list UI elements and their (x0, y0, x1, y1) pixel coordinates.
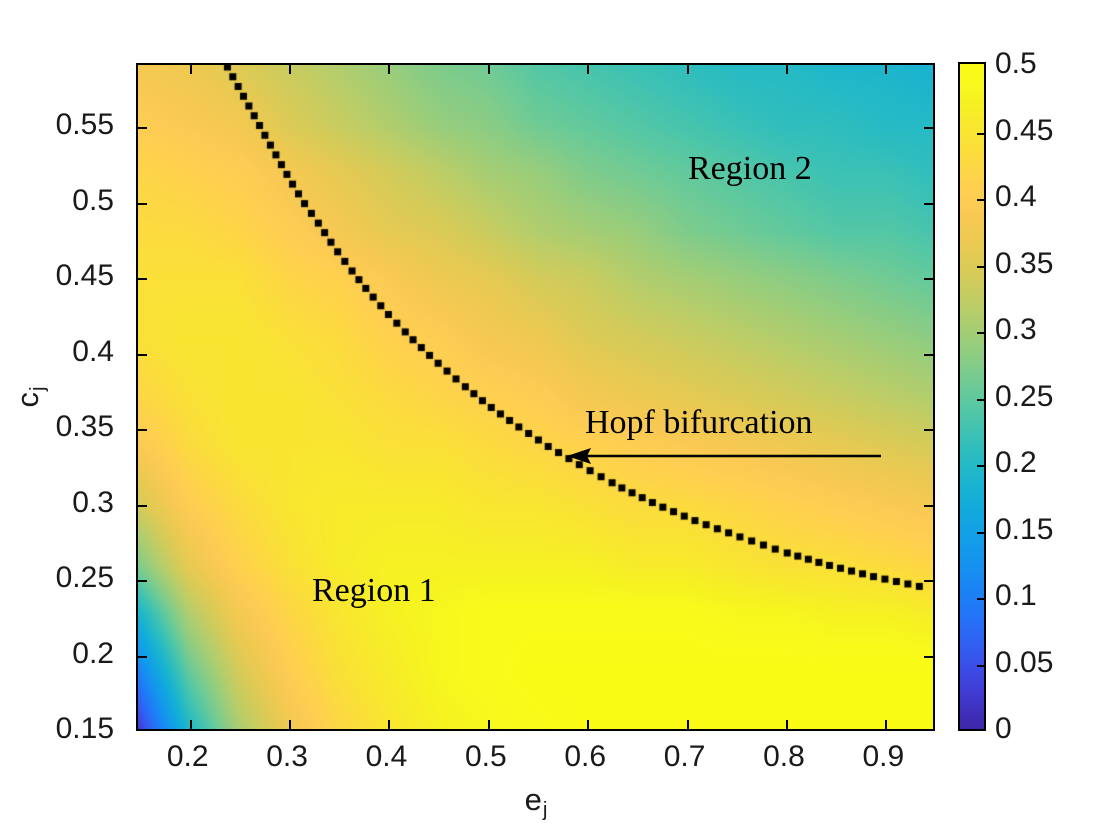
y-tick-label: 0.2 (72, 637, 114, 671)
y-axis-label-base: c (10, 392, 45, 408)
y-tick-label: 0.4 (72, 335, 114, 369)
colorbar-tick-mark (977, 532, 984, 534)
y-axis-label: cj (10, 386, 50, 407)
colorbar-tick-label: 0.2 (995, 446, 1037, 480)
y-tick-mark (138, 354, 147, 356)
y-tick-mark (138, 580, 147, 582)
x-tick-mark-top (587, 65, 589, 74)
x-tick-mark (587, 720, 589, 729)
y-tick-mark-right (924, 505, 933, 507)
colorbar-tick-label: 0.15 (995, 513, 1053, 547)
x-axis-label-subscript: j (543, 798, 548, 821)
matlab-figure: Region 1 Region 2 Hopf bifurcation 0.20.… (0, 0, 1120, 840)
y-tick-mark-right (924, 656, 933, 658)
x-tick-label: 0.4 (366, 740, 408, 774)
y-tick-label: 0.5 (72, 184, 114, 218)
x-axis-label-base: e (525, 782, 542, 817)
y-tick-mark-right (924, 429, 933, 431)
x-tick-mark (786, 720, 788, 729)
x-tick-label: 0.9 (862, 740, 904, 774)
colorbar-gradient (960, 64, 984, 729)
y-tick-mark-right (924, 580, 933, 582)
plot-area (136, 63, 935, 731)
colorbar-tick-label: 0.05 (995, 646, 1053, 680)
colorbar-tick-mark (977, 332, 984, 334)
y-tick-mark (138, 127, 147, 129)
y-tick-mark (138, 429, 147, 431)
x-tick-label: 0.3 (266, 740, 308, 774)
x-tick-mark-top (786, 65, 788, 74)
y-axis-label-subscript: j (26, 386, 49, 391)
colorbar-tick-label: 0 (995, 712, 1012, 746)
y-tick-mark-right (924, 127, 933, 129)
y-tick-mark-right (924, 354, 933, 356)
x-tick-label: 0.8 (763, 740, 805, 774)
colorbar (958, 62, 986, 731)
x-tick-mark (190, 720, 192, 729)
x-tick-mark (388, 720, 390, 729)
x-tick-mark-top (388, 65, 390, 74)
x-tick-mark (488, 720, 490, 729)
y-tick-label: 0.3 (72, 486, 114, 520)
colorbar-tick-mark (977, 465, 984, 467)
colorbar-tick-label: 0.4 (995, 180, 1037, 214)
colorbar-tick-mark (977, 133, 984, 135)
hopf-arrow-icon (565, 440, 885, 472)
x-tick-mark (289, 720, 291, 729)
x-tick-label: 0.7 (664, 740, 706, 774)
y-tick-mark-right (924, 278, 933, 280)
x-tick-label: 0.5 (465, 740, 507, 774)
y-tick-label: 0.15 (56, 712, 114, 746)
colorbar-tick-mark (977, 665, 984, 667)
x-tick-mark-top (687, 65, 689, 74)
y-tick-mark (138, 203, 147, 205)
x-tick-label: 0.6 (564, 740, 606, 774)
colorbar-tick-mark (977, 266, 984, 268)
colorbar-tick-label: 0.25 (995, 380, 1053, 414)
x-tick-mark-top (289, 65, 291, 74)
x-tick-mark-top (190, 65, 192, 74)
x-tick-label: 0.2 (167, 740, 209, 774)
y-tick-label: 0.25 (56, 561, 114, 595)
x-tick-mark-top (885, 65, 887, 74)
colorbar-tick-mark (977, 598, 984, 600)
colorbar-tick-label: 0.3 (995, 313, 1037, 347)
y-tick-mark (138, 278, 147, 280)
x-axis-label: ej (525, 782, 548, 822)
colorbar-tick-mark (977, 199, 984, 201)
y-tick-mark-right (924, 203, 933, 205)
colorbar-tick-label: 0.1 (995, 579, 1037, 613)
hopf-bifurcation-curve (138, 65, 935, 731)
colorbar-tick-label: 0.45 (995, 114, 1053, 148)
colorbar-tick-label: 0.5 (995, 47, 1037, 81)
x-tick-mark (687, 720, 689, 729)
x-tick-mark-top (488, 65, 490, 74)
colorbar-tick-mark (977, 399, 984, 401)
y-tick-label: 0.55 (56, 108, 114, 142)
colorbar-tick-label: 0.35 (995, 247, 1053, 281)
x-tick-mark (885, 720, 887, 729)
y-tick-mark (138, 656, 147, 658)
y-tick-label: 0.45 (56, 259, 114, 293)
y-tick-label: 0.35 (56, 410, 114, 444)
y-tick-mark (138, 505, 147, 507)
